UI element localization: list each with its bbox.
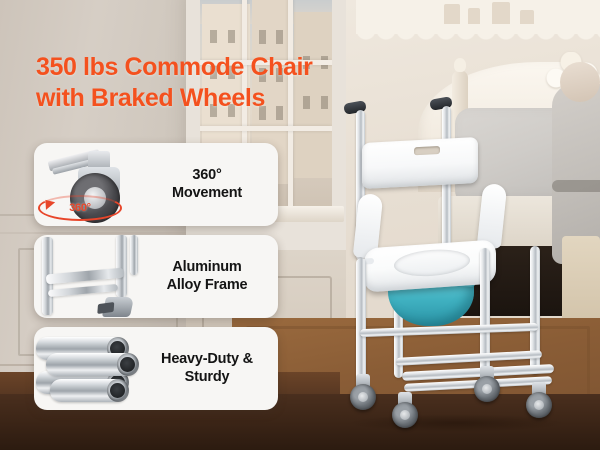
- aluminum-frame-icon: [34, 235, 142, 318]
- rotation-badge-label: 360°: [69, 202, 91, 214]
- commode-chair: [330, 96, 592, 432]
- page-title: 350 lbs Commode Chair with Braked Wheels: [36, 52, 436, 113]
- seat-lid: [394, 247, 470, 278]
- headline-line-2: with Braked Wheels: [36, 83, 436, 114]
- card-label-line-1: Heavy-Duty &: [142, 351, 272, 369]
- seat: [364, 239, 496, 292]
- caster-wheel: [392, 402, 418, 428]
- product-banner: 350 lbs Commode Chair with Braked Wheels…: [0, 0, 600, 450]
- card-label: Heavy-Duty & Sturdy: [142, 351, 278, 387]
- lower-rail-2: [396, 350, 542, 366]
- card-artwork: 360°: [34, 143, 142, 226]
- window-mullion: [200, 126, 332, 131]
- card-label-line-2: Movement: [142, 185, 272, 203]
- backrest-handle-slot: [414, 146, 440, 155]
- card-label-line-1: 360°: [142, 167, 272, 185]
- card-label-line-2: Sturdy: [142, 369, 272, 387]
- card-artwork: [34, 327, 142, 410]
- card-label: 360° Movement: [142, 167, 278, 203]
- feature-card-aluminum-alloy-frame[interactable]: Aluminum Alloy Frame: [34, 235, 278, 318]
- lower-rail: [360, 323, 538, 337]
- card-artwork: [34, 235, 142, 318]
- headline-line-1: 350 lbs Commode Chair: [36, 53, 312, 81]
- feature-card-list: 360° 360° Movement Aluminum: [34, 143, 278, 419]
- feature-card-360-movement[interactable]: 360° 360° Movement: [34, 143, 278, 226]
- card-label-line-2: Alloy Frame: [142, 277, 272, 295]
- feature-card-heavy-duty-sturdy[interactable]: Heavy-Duty & Sturdy: [34, 327, 278, 410]
- backrest: [362, 137, 478, 189]
- caster-wheel: [526, 392, 552, 418]
- chair-leg-front-left: [356, 258, 366, 388]
- scallop-trim: [356, 30, 600, 46]
- caster-wheel: [474, 376, 500, 402]
- card-label-line-1: Aluminum: [142, 259, 272, 277]
- rotation-360-icon: 360°: [38, 195, 122, 221]
- card-label: Aluminum Alloy Frame: [142, 259, 278, 295]
- steel-tubes-icon: [36, 335, 142, 405]
- shelf-decor: [440, 0, 560, 24]
- armrest-right: [477, 183, 508, 249]
- caster-wheel: [350, 384, 376, 410]
